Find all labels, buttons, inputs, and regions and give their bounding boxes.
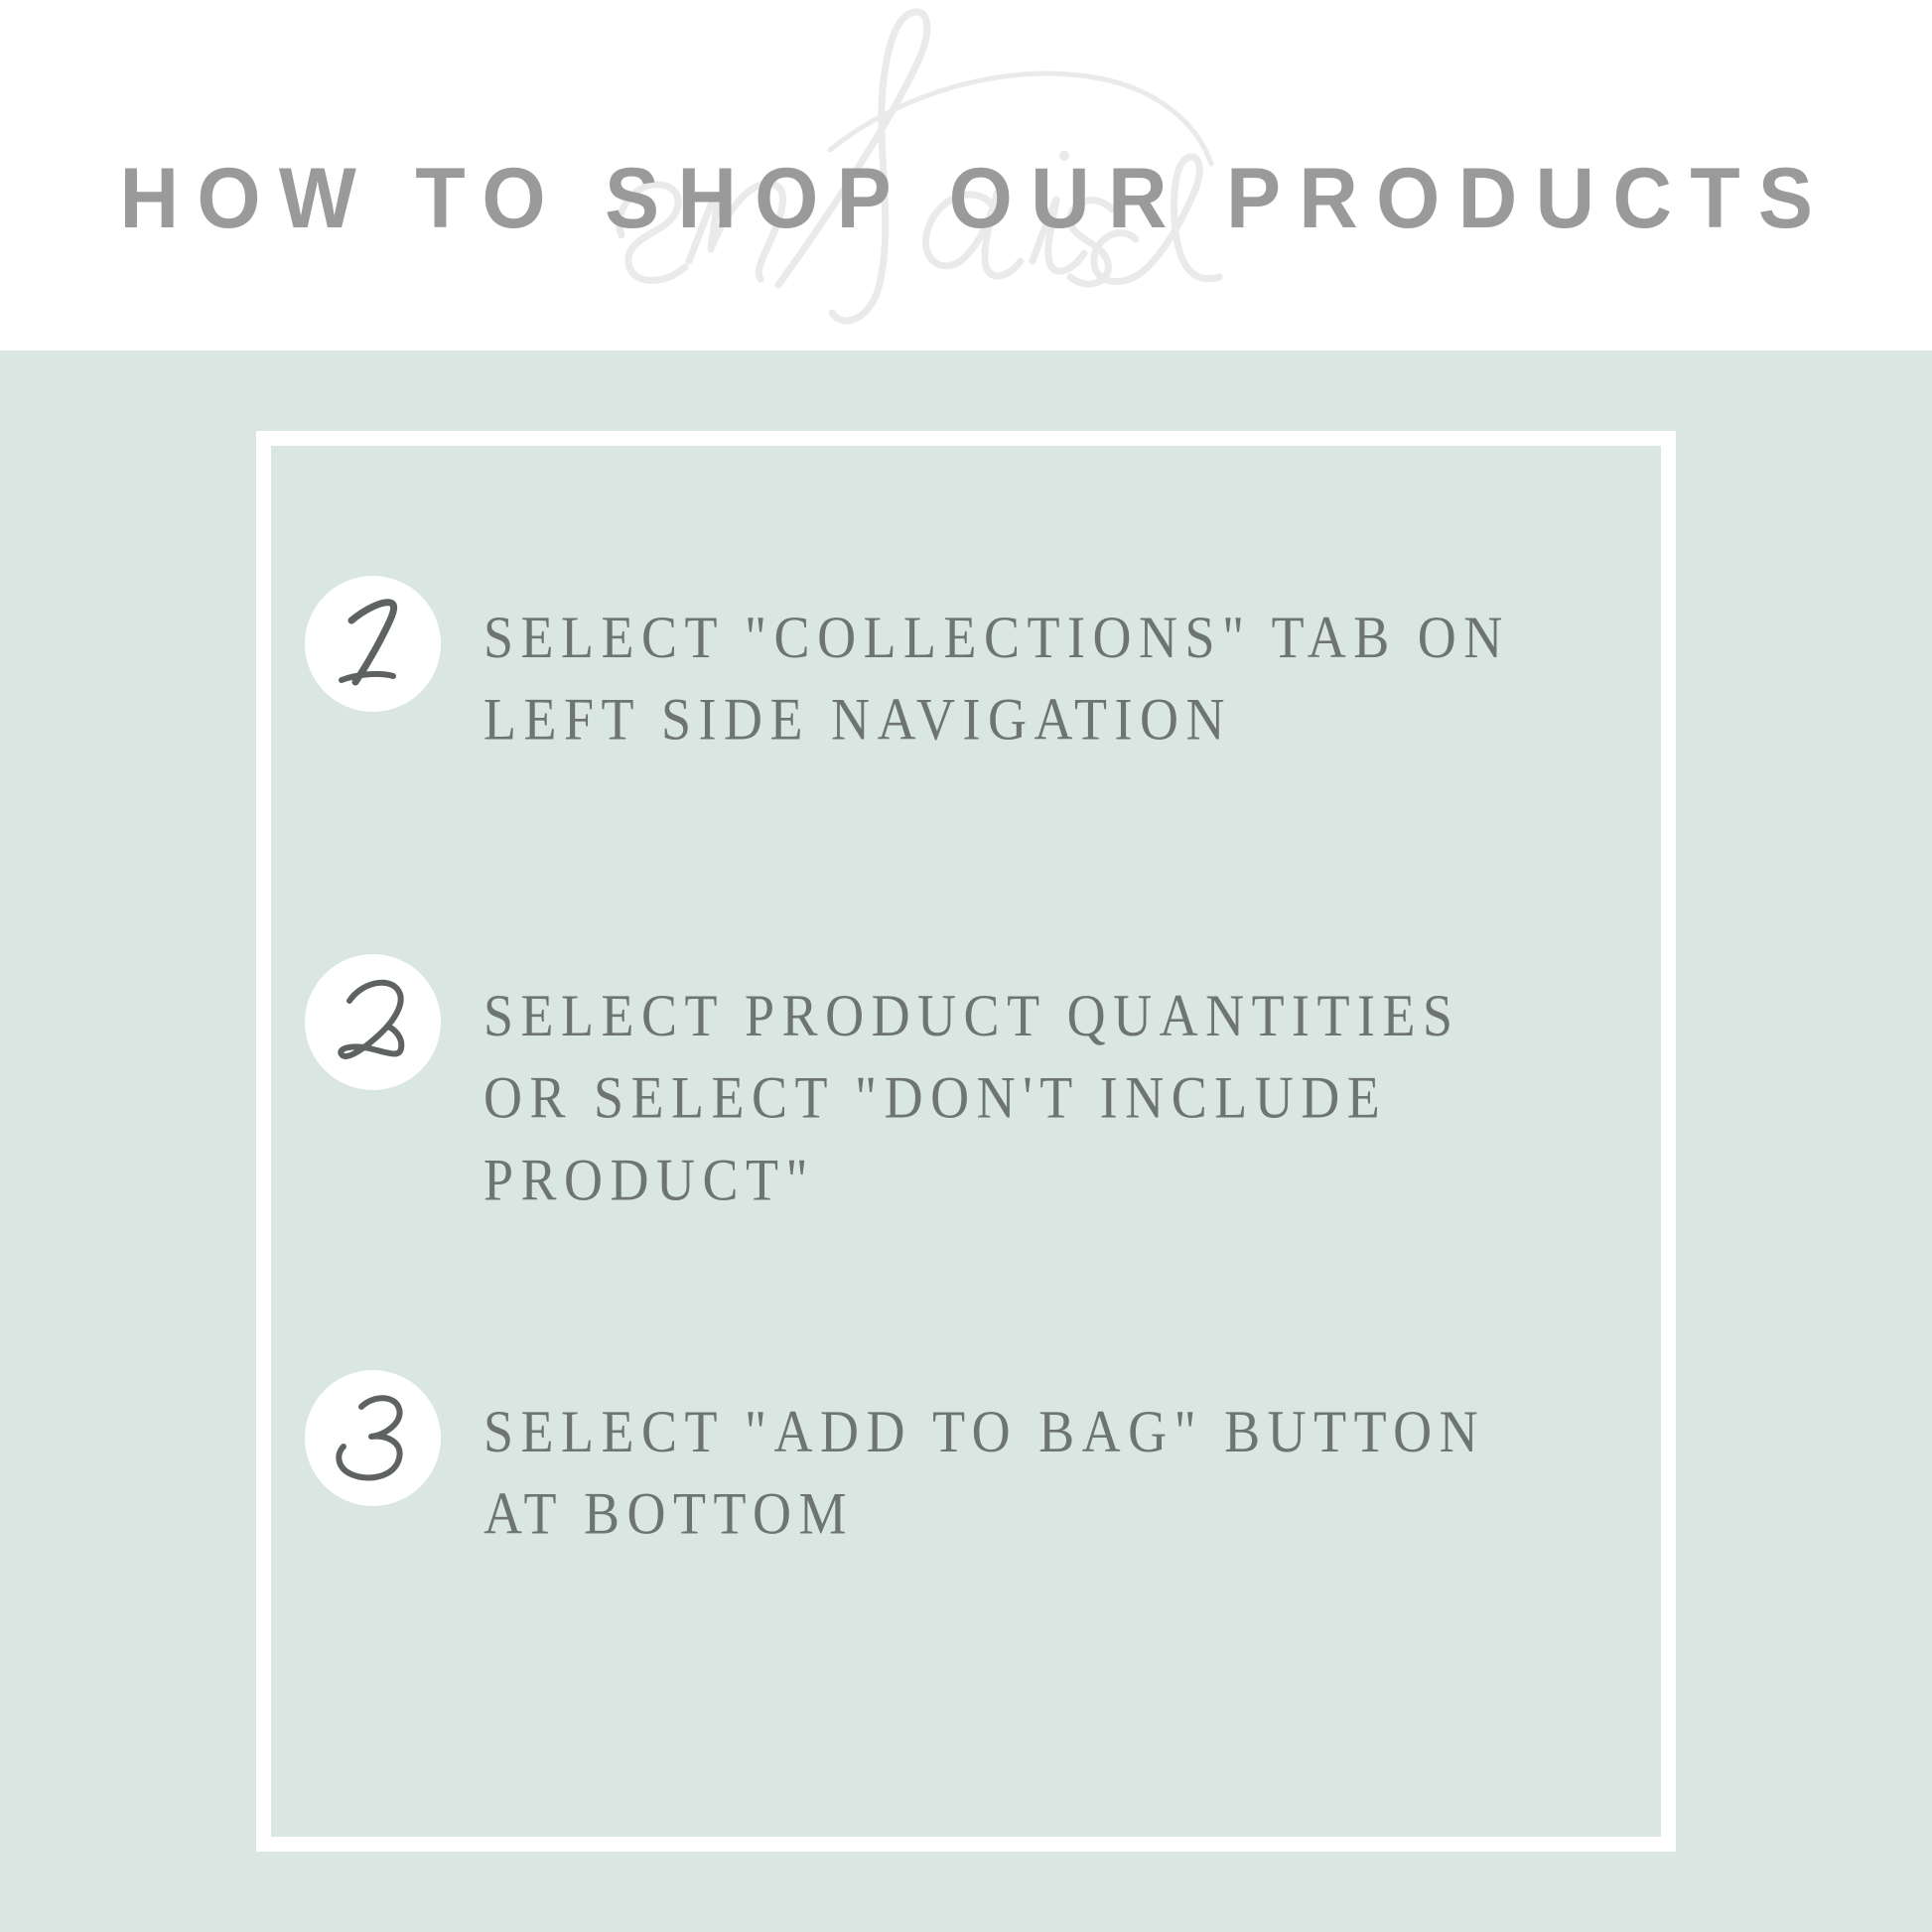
script-numeral-two-icon	[326, 971, 421, 1074]
script-numeral-one-icon	[328, 593, 419, 696]
steps-list: SELECT "COLLECTIONS" TAB ON LEFT SIDE NA…	[256, 431, 1676, 1852]
infographic-canvas: HOW TO SHOP OUR PRODUCTS SELECT "COLLECT…	[0, 0, 1932, 1932]
script-numeral-three-icon	[326, 1385, 421, 1492]
step-description-1: SELECT "COLLECTIONS" TAB ON LEFT SIDE NA…	[483, 576, 1676, 760]
step-number-badge-1	[305, 576, 441, 712]
list-item: SELECT PRODUCT QUANTITIES OR SELECT "DON…	[256, 954, 1676, 1192]
step-number-badge-3	[305, 1370, 441, 1506]
step-number-badge-2	[305, 954, 441, 1090]
page-title: HOW TO SHOP OUR PRODUCTS	[0, 0, 1932, 350]
list-item: SELECT "ADD TO BAG" BUTTON AT BOTTOM	[256, 1370, 1676, 1535]
step-description-2: SELECT PRODUCT QUANTITIES OR SELECT "DON…	[483, 954, 1676, 1221]
list-item: SELECT "COLLECTIONS" TAB ON LEFT SIDE NA…	[256, 576, 1676, 741]
step-description-3: SELECT "ADD TO BAG" BUTTON AT BOTTOM	[483, 1370, 1676, 1555]
header-band: HOW TO SHOP OUR PRODUCTS	[0, 0, 1932, 350]
page-title-text: HOW TO SHOP OUR PRODUCTS	[101, 156, 1831, 241]
